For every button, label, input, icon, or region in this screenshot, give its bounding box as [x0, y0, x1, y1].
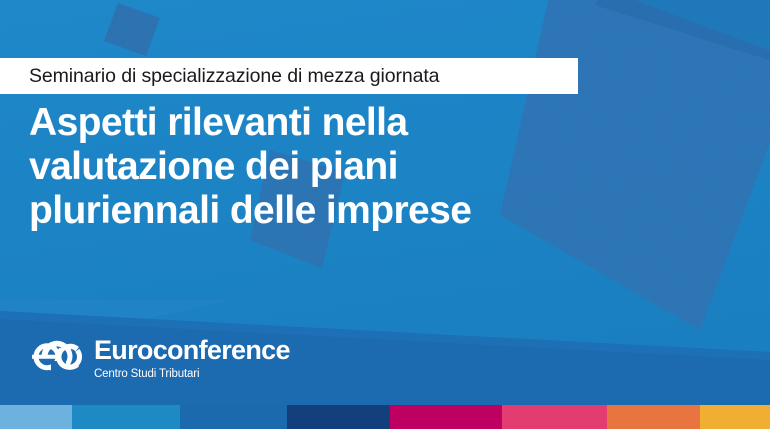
kicker-band: Seminario di specializzazione di mezza g… [0, 58, 578, 94]
logo-name: Euroconference [94, 337, 290, 364]
headline-line-2: valutazione dei piani [29, 145, 649, 189]
swatch-pink [502, 405, 607, 429]
swatch-magenta [390, 405, 502, 429]
swatch-navy [287, 405, 390, 429]
seminar-promo-banner: Seminario di specializzazione di mezza g… [0, 0, 770, 429]
headline-line-3: pluriennali delle imprese [29, 189, 649, 233]
ec-monogram-icon [27, 335, 85, 378]
page-title: Aspetti rilevanti nella valutazione dei … [29, 101, 649, 233]
logo-wordmark: Euroconference Centro Studi Tributari [94, 334, 290, 381]
swatch-blue [72, 405, 180, 429]
logo-tagline: Centro Studi Tributari [94, 369, 290, 381]
brand-color-strip [0, 405, 770, 429]
swatch-medium-blue [180, 405, 287, 429]
headline-line-1: Aspetti rilevanti nella [29, 101, 649, 145]
swatch-orange [607, 405, 700, 429]
swatch-amber [700, 405, 770, 429]
kicker-text: Seminario di specializzazione di mezza g… [29, 65, 439, 88]
swatch-light-blue [0, 405, 72, 429]
euroconference-logo: Euroconference Centro Studi Tributari [27, 334, 290, 381]
